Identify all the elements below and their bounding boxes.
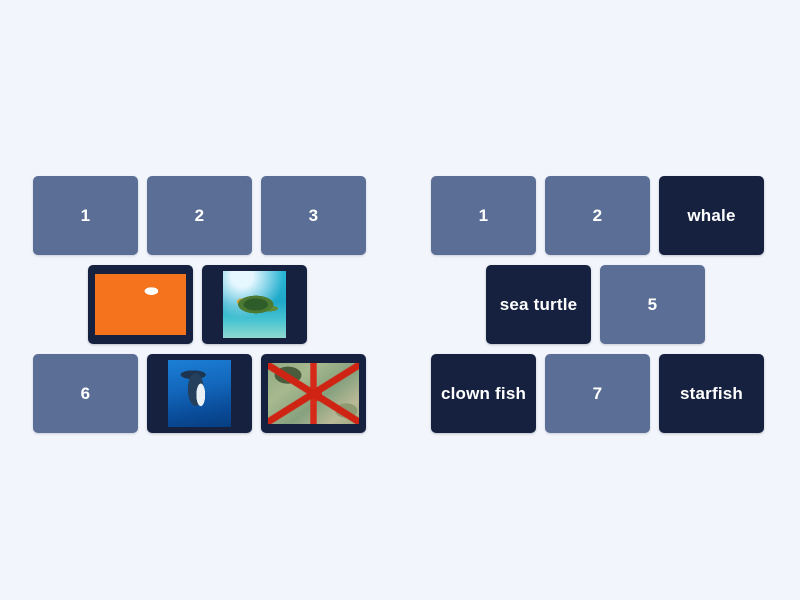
clownfish-photo <box>95 274 186 335</box>
tile-image-clownfish[interactable] <box>88 265 193 344</box>
tile-3[interactable]: 3 <box>261 176 366 255</box>
tile-2[interactable]: 2 <box>147 176 252 255</box>
tile-row: sea turtle5 <box>486 265 764 344</box>
tile-label: 2 <box>147 206 252 226</box>
tile-5[interactable]: 5 <box>600 265 705 344</box>
tile-row: 123 <box>33 176 366 255</box>
tile-2[interactable]: 2 <box>545 176 650 255</box>
tile-word-clown-fish[interactable]: clown fish <box>431 354 536 433</box>
tile-label: sea turtle <box>486 295 591 315</box>
tile-label: 5 <box>600 295 705 315</box>
tile-6[interactable]: 6 <box>33 354 138 433</box>
tile-image-starfish[interactable] <box>261 354 366 433</box>
tile-image-whale[interactable] <box>147 354 252 433</box>
tile-row: clown fish7starfish <box>431 354 764 433</box>
word-grid: 12whalesea turtle5clown fish7starfish <box>431 176 764 443</box>
tile-row: 12whale <box>431 176 764 255</box>
tile-label: clown fish <box>431 384 536 404</box>
tile-image-sea-turtle[interactable] <box>202 265 307 344</box>
tile-row: 6 <box>33 354 366 433</box>
tile-word-sea-turtle[interactable]: sea turtle <box>486 265 591 344</box>
tile-label: starfish <box>659 384 764 404</box>
whale-photo <box>168 360 231 427</box>
tile-word-starfish[interactable]: starfish <box>659 354 764 433</box>
tile-7[interactable]: 7 <box>545 354 650 433</box>
starfish-photo <box>268 363 359 424</box>
tile-1[interactable]: 1 <box>33 176 138 255</box>
tile-label: 6 <box>33 384 138 404</box>
tile-1[interactable]: 1 <box>431 176 536 255</box>
tile-label: 7 <box>545 384 650 404</box>
image-grid: 1236 <box>33 176 366 443</box>
tile-label: 2 <box>545 206 650 226</box>
seaturtle-photo <box>223 271 286 338</box>
tile-label: whale <box>659 206 764 226</box>
tile-label: 1 <box>431 206 536 226</box>
tile-label: 1 <box>33 206 138 226</box>
tile-word-whale[interactable]: whale <box>659 176 764 255</box>
game-stage: 1236 12whalesea turtle5clown fish7starfi… <box>0 0 800 600</box>
tile-label: 3 <box>261 206 366 226</box>
tile-row <box>88 265 366 344</box>
